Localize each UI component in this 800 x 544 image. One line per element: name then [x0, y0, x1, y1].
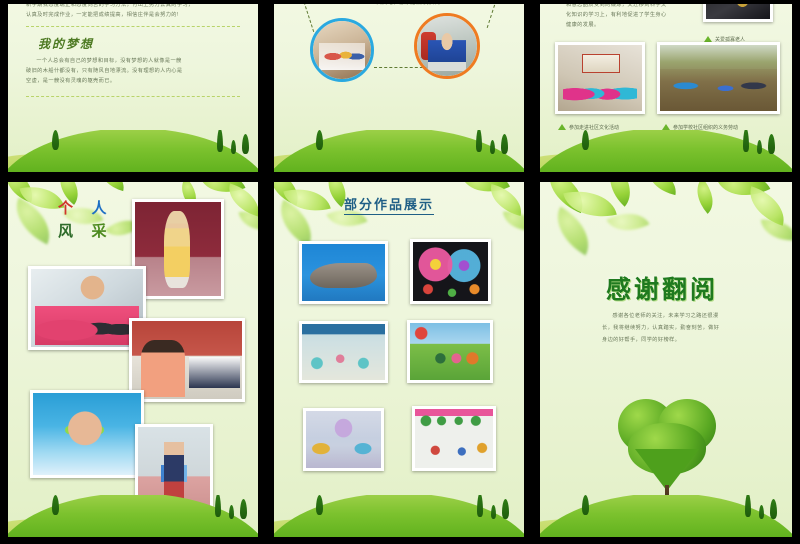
- grass-footer: [540, 130, 792, 172]
- leaf-icon: [761, 216, 792, 243]
- elderly-care-photo[interactable]: [703, 4, 773, 22]
- page-top-right[interactable]: 和意志品质受到的锻炼，又迁移到科学文 化知识的学习上，有利地促进了学生身心 健康…: [540, 4, 792, 172]
- tree-icon: [229, 505, 234, 519]
- swimming-photo[interactable]: [30, 390, 144, 478]
- clay-fish-sculpture-photo[interactable]: [299, 241, 388, 304]
- tree-icon: [490, 140, 495, 154]
- tree-icon: [582, 130, 589, 150]
- dream-line-2: 破旧的木船什都没有，只有随风自地漂流。没有理想的人内心是: [26, 66, 240, 76]
- leaf-icon: [563, 183, 617, 224]
- leaf-icon: [606, 203, 649, 241]
- my-dream-body: 一个人总会有自己的梦想和目标，没有梦想的人就像是一艘 破旧的木船什都没有，只有随…: [26, 56, 240, 86]
- dream-line-3: 空虚，是一艘没有灵魂的躯壳而已。: [26, 76, 240, 86]
- swim-caption: 大笑吧，游泳能锻炼身体。: [330, 4, 490, 8]
- tree-icon: [316, 495, 323, 515]
- leaf-icon: [688, 182, 723, 214]
- leaf-decoration-band: [540, 182, 792, 274]
- heart-shaped-tree-illustration: [612, 397, 722, 507]
- tree-icon: [316, 130, 323, 150]
- top-right-body: 和意志品质受到的锻炼，又迁移到科学文 化知识的学习上，有利地促进了学生身心 健康…: [566, 4, 686, 30]
- soccer-boy-circle-photo[interactable]: [414, 13, 480, 79]
- village-scene-drawing-photo[interactable]: [299, 321, 388, 383]
- leaf-icon: [96, 182, 128, 191]
- page-top-middle[interactable]: 大笑吧，游泳能锻炼身体。: [274, 4, 524, 172]
- piano-playing-photo[interactable]: [129, 318, 245, 402]
- leaf-icon: [8, 197, 60, 244]
- title-char-cai: 采: [92, 220, 108, 241]
- tree-icon: [242, 134, 249, 154]
- leaf-icon: [239, 208, 258, 234]
- tree-icon: [215, 495, 221, 517]
- tree-icon: [240, 499, 247, 519]
- tree-icon: [491, 505, 496, 519]
- grass-footer: [274, 130, 524, 172]
- hill-primary: [274, 495, 524, 537]
- tree-icon: [217, 130, 223, 152]
- tree-icon: [745, 495, 751, 517]
- festival-poster-drawing-photo[interactable]: [303, 408, 384, 471]
- tree-icon: [757, 140, 762, 154]
- leaf-icon: [743, 186, 792, 226]
- grass-footer: [8, 495, 258, 537]
- grass-footer: [274, 495, 524, 537]
- firework-flowers-painting-photo[interactable]: [410, 239, 491, 304]
- top-left-intro-paragraph: 新学期我态度端正和态度刻苦的学习方法，付出上努力去真的学习， 认真及时完成作业，…: [26, 4, 240, 20]
- dream-line-1: 一个人总会有自己的梦想和目标，没有梦想的人就像是一艘: [26, 56, 240, 66]
- leaf-icon: [283, 182, 331, 219]
- leaf-icon: [462, 182, 510, 203]
- page-title-works-showcase: 部分作品展示: [344, 194, 434, 215]
- tree-icon: [768, 134, 775, 154]
- tree-icon: [476, 130, 482, 152]
- grass-footer: [8, 130, 258, 172]
- leaf-icon: [274, 199, 322, 246]
- tree-icon: [52, 495, 59, 515]
- tree-icon: [502, 499, 509, 519]
- leaf-icon: [546, 207, 601, 256]
- leaf-icon: [540, 182, 592, 213]
- leaf-icon: [644, 182, 680, 195]
- page-title-personal-style-row2: 风 采: [58, 220, 108, 241]
- leaf-icon: [486, 184, 524, 216]
- children-studying-circle-photo[interactable]: [310, 18, 374, 82]
- leaf-icon: [8, 182, 39, 203]
- page-bottom-left[interactable]: 个 人 风 采: [8, 182, 258, 537]
- tree-icon: [477, 495, 483, 517]
- thanks-line-1: 感谢各位老师的关注，未来学习之路还很漫: [602, 310, 726, 322]
- leaf-icon: [598, 182, 642, 207]
- leaf-icon: [274, 182, 305, 205]
- body-line-2: 化知识的学习上，有利地促进了学生身心: [566, 10, 686, 20]
- intro-line-2: 认真及时完成作业，一定能把成绩提高，相信庄伴是会努力的!: [26, 10, 240, 20]
- thanks-line-3: 身边的好帮手，同学的好榜样。: [602, 334, 726, 346]
- poster-sheet: 新学期我态度端正和态度刻苦的学习方法，付出上努力去真的学习， 认真及时完成作业，…: [0, 0, 800, 544]
- divider-bottom: [26, 96, 240, 97]
- divider-top: [26, 26, 240, 27]
- tree-icon: [759, 505, 764, 519]
- page-bottom-middle[interactable]: 部分作品展示: [274, 182, 524, 537]
- tree-icon: [501, 134, 508, 154]
- body-line-3: 健康的发展。: [566, 20, 686, 30]
- dashed-connector-left: [299, 4, 314, 32]
- section-title-my-dream: 我的梦想: [38, 35, 240, 52]
- thanks-body: 感谢各位老师的关注，未来学习之路还很漫 长，我将继续努力，认真踏实，勤奋刻苦，做…: [602, 310, 726, 346]
- leaf-icon: [223, 184, 258, 217]
- title-char-feng: 风: [58, 220, 74, 241]
- title-char-ren: 人: [92, 197, 108, 218]
- volunteer-labor-photo[interactable]: [657, 42, 780, 114]
- leaf-icon: [718, 182, 771, 208]
- tree-icon: [770, 499, 777, 519]
- hill-primary: [274, 130, 524, 172]
- page-top-left[interactable]: 新学期我态度端正和态度刻苦的学习方法，付出上努力去真的学习， 认真及时完成作业，…: [8, 4, 258, 172]
- jump-rope-drawing-photo[interactable]: [407, 320, 493, 383]
- leaf-icon: [503, 208, 524, 233]
- hill-primary: [540, 130, 792, 172]
- tree-icon: [52, 130, 59, 150]
- grass-footer: [540, 495, 792, 537]
- page-title-personal-style: 个 人: [58, 197, 108, 218]
- hill-primary: [540, 495, 792, 537]
- tree-icon: [743, 130, 749, 152]
- tree-icon: [231, 140, 236, 154]
- community-culture-photo[interactable]: [555, 42, 645, 114]
- page-title-thanks: 感谢翻阅: [606, 270, 718, 306]
- tree-icon: [582, 495, 589, 515]
- busy-street-drawing-photo[interactable]: [412, 406, 496, 471]
- title-char-ge: 个: [58, 197, 74, 218]
- page-bottom-right[interactable]: 感谢翻阅 感谢各位老师的关注，未来学习之路还很漫 长，我将继续努力，认真踏实，勤…: [540, 182, 792, 537]
- thanks-line-2: 长，我将继续努力，认真踏实，勤奋刻苦，做好: [602, 322, 726, 334]
